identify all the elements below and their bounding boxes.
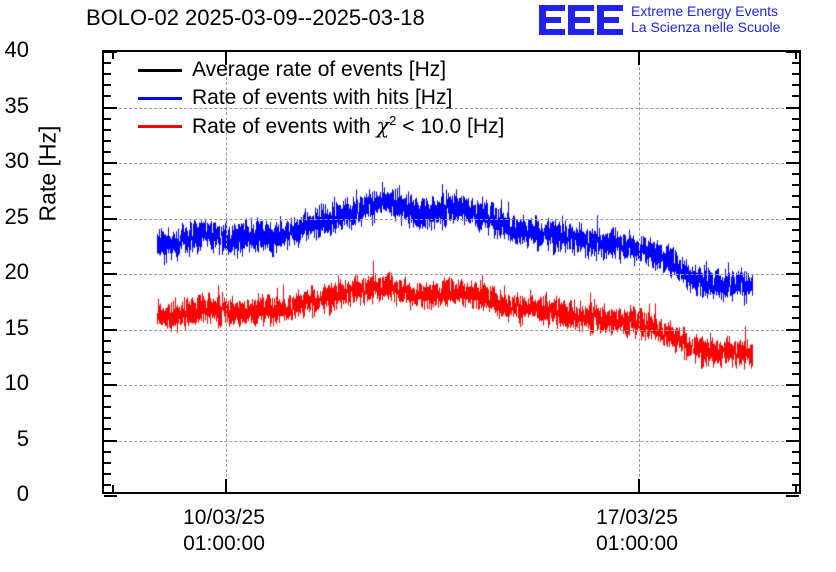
y-axis-tick-minor	[104, 118, 111, 120]
y-axis-tick-minor	[104, 206, 111, 208]
y-axis-tick-major	[104, 384, 117, 386]
y-tick-label: 30	[5, 148, 29, 174]
x-axis-tick-minor	[112, 52, 114, 59]
y-axis-tick-minor	[792, 62, 799, 64]
x-tick-label-date: 10/03/25	[183, 505, 265, 531]
y-axis-tick-minor	[792, 340, 799, 342]
y-axis-tick-minor	[792, 373, 799, 375]
chart-legend: Average rate of events [Hz] Rate of even…	[138, 56, 504, 140]
x-axis-tick-minor	[795, 485, 797, 492]
y-tick-label: 5	[17, 426, 29, 452]
gridline-horizontal	[104, 330, 799, 331]
legend-label-rate-with-hits: Rate of events with hits [Hz]	[192, 86, 452, 110]
gridline-horizontal	[104, 385, 799, 386]
y-axis-tick-minor	[104, 62, 111, 64]
y-axis-tick-major	[786, 440, 799, 442]
y-axis-tick-minor	[792, 284, 799, 286]
x-tick-label-date: 17/03/25	[596, 505, 678, 531]
y-axis-tick-minor	[104, 462, 111, 464]
y-axis-tick-major	[104, 440, 117, 442]
y-axis-tick-minor	[792, 95, 799, 97]
y-axis-tick-minor	[104, 451, 111, 453]
y-axis-tick-minor	[104, 251, 111, 253]
y-axis-tick-minor	[104, 306, 111, 308]
x-axis-tick-major	[225, 479, 227, 492]
y-axis-tick-minor	[792, 251, 799, 253]
y-axis-tick-major	[104, 107, 117, 109]
y-axis-tick-minor	[104, 151, 111, 153]
y-axis-tick-minor	[104, 395, 111, 397]
y-axis-tick-major	[786, 384, 799, 386]
y-axis-tick-minor	[104, 484, 111, 486]
y-axis-tick-minor	[104, 240, 111, 242]
y-axis-tick-minor	[104, 406, 111, 408]
y-axis-tick-minor	[104, 95, 111, 97]
y-tick-label: 20	[5, 259, 29, 285]
y-axis-tick-minor	[104, 295, 111, 297]
y-axis-tick-minor	[792, 84, 799, 86]
y-axis-tick-minor	[792, 173, 799, 175]
y-axis-tick-minor	[104, 284, 111, 286]
y-axis-tick-major	[104, 273, 117, 275]
y-axis-tick-minor	[792, 351, 799, 353]
chi-symbol: χ	[376, 114, 389, 138]
y-axis-tick-minor	[792, 395, 799, 397]
y-axis-tick-minor	[792, 451, 799, 453]
y-axis-tick-minor	[104, 129, 111, 131]
y-axis-tick-major	[104, 162, 117, 164]
x-tick-label: 17/03/2501:00:00	[596, 505, 678, 556]
y-axis-tick-minor	[792, 240, 799, 242]
y-axis-tick-minor	[104, 417, 111, 419]
y-axis-tick-major	[786, 51, 799, 53]
y-tick-label: 0	[17, 481, 29, 507]
x-axis-tick-major	[638, 52, 640, 65]
y-axis-tick-minor	[104, 184, 111, 186]
legend-chi2-prefix: Rate of events with	[192, 115, 376, 138]
y-axis-tick-minor	[104, 229, 111, 231]
y-axis-tick-minor	[104, 173, 111, 175]
y-axis-tick-minor	[792, 306, 799, 308]
gridline-horizontal	[104, 441, 799, 442]
y-axis-tick-minor	[792, 229, 799, 231]
legend-swatch-rate-chi2	[138, 125, 182, 128]
y-axis-tick-major	[786, 218, 799, 220]
y-axis-tick-minor	[792, 417, 799, 419]
y-axis-tick-minor	[104, 351, 111, 353]
x-axis-tick-major	[638, 479, 640, 492]
gridline-horizontal	[104, 274, 799, 275]
y-axis-tick-minor	[792, 462, 799, 464]
x-tick-label-time: 01:00:00	[596, 531, 678, 557]
y-axis-tick-minor	[792, 428, 799, 430]
y-axis-tick-minor	[792, 129, 799, 131]
y-axis-tick-minor	[792, 206, 799, 208]
legend-chi2-suffix: < 10.0 [Hz]	[396, 115, 504, 138]
y-tick-label: 40	[5, 37, 29, 63]
legend-item-rate-with-hits: Rate of events with hits [Hz]	[138, 84, 504, 112]
y-axis-tick-minor	[792, 73, 799, 75]
y-axis-tick-major	[786, 273, 799, 275]
y-axis-tick-minor	[792, 262, 799, 264]
y-axis-tick-minor	[792, 151, 799, 153]
y-axis-tick-minor	[104, 84, 111, 86]
legend-item-rate-chi2: Rate of events with χ2 < 10.0 [Hz]	[138, 112, 504, 140]
y-axis-tick-minor	[104, 362, 111, 364]
x-tick-label-time: 01:00:00	[183, 531, 265, 557]
y-axis-tick-minor	[792, 473, 799, 475]
y-axis-tick-major	[104, 329, 117, 331]
y-axis-tick-major	[104, 218, 117, 220]
y-axis-tick-minor	[792, 140, 799, 142]
legend-swatch-rate-with-hits	[138, 97, 182, 100]
y-axis-tick-minor	[104, 73, 111, 75]
y-axis-tick-major	[104, 495, 117, 497]
y-axis-tick-minor	[104, 317, 111, 319]
y-axis-tick-major	[786, 107, 799, 109]
y-axis-tick-minor	[792, 295, 799, 297]
y-axis-tick-minor	[104, 340, 111, 342]
gridline-horizontal	[104, 219, 799, 220]
x-axis-tick-minor	[795, 52, 797, 59]
y-axis-tick-minor	[792, 195, 799, 197]
legend-item-average-rate: Average rate of events [Hz]	[138, 56, 504, 84]
y-axis-tick-minor	[104, 262, 111, 264]
y-tick-label: 10	[5, 370, 29, 396]
x-tick-label: 10/03/2501:00:00	[183, 505, 265, 556]
y-axis-tick-minor	[104, 195, 111, 197]
y-axis-tick-minor	[104, 373, 111, 375]
y-tick-label: 15	[5, 315, 29, 341]
x-axis-tick-minor	[112, 485, 114, 492]
y-axis-tick-minor	[792, 118, 799, 120]
y-tick-label: 35	[5, 93, 29, 119]
gridline-vertical	[639, 52, 640, 492]
y-axis-tick-minor	[792, 317, 799, 319]
legend-label-average-rate: Average rate of events [Hz]	[192, 58, 446, 82]
legend-swatch-average-rate	[138, 69, 182, 72]
y-axis-tick-minor	[104, 140, 111, 142]
y-axis-tick-minor	[104, 428, 111, 430]
y-axis-tick-major	[104, 51, 117, 53]
y-tick-label: 25	[5, 204, 29, 230]
legend-label-rate-chi2: Rate of events with χ2 < 10.0 [Hz]	[192, 113, 504, 139]
gridline-horizontal	[104, 163, 799, 164]
y-axis-tick-minor	[104, 473, 111, 475]
y-axis-tick-minor	[792, 362, 799, 364]
y-axis-tick-major	[786, 329, 799, 331]
y-axis-tick-minor	[792, 184, 799, 186]
y-axis-tick-minor	[792, 406, 799, 408]
y-axis-tick-major	[786, 162, 799, 164]
y-axis-tick-major	[786, 495, 799, 497]
